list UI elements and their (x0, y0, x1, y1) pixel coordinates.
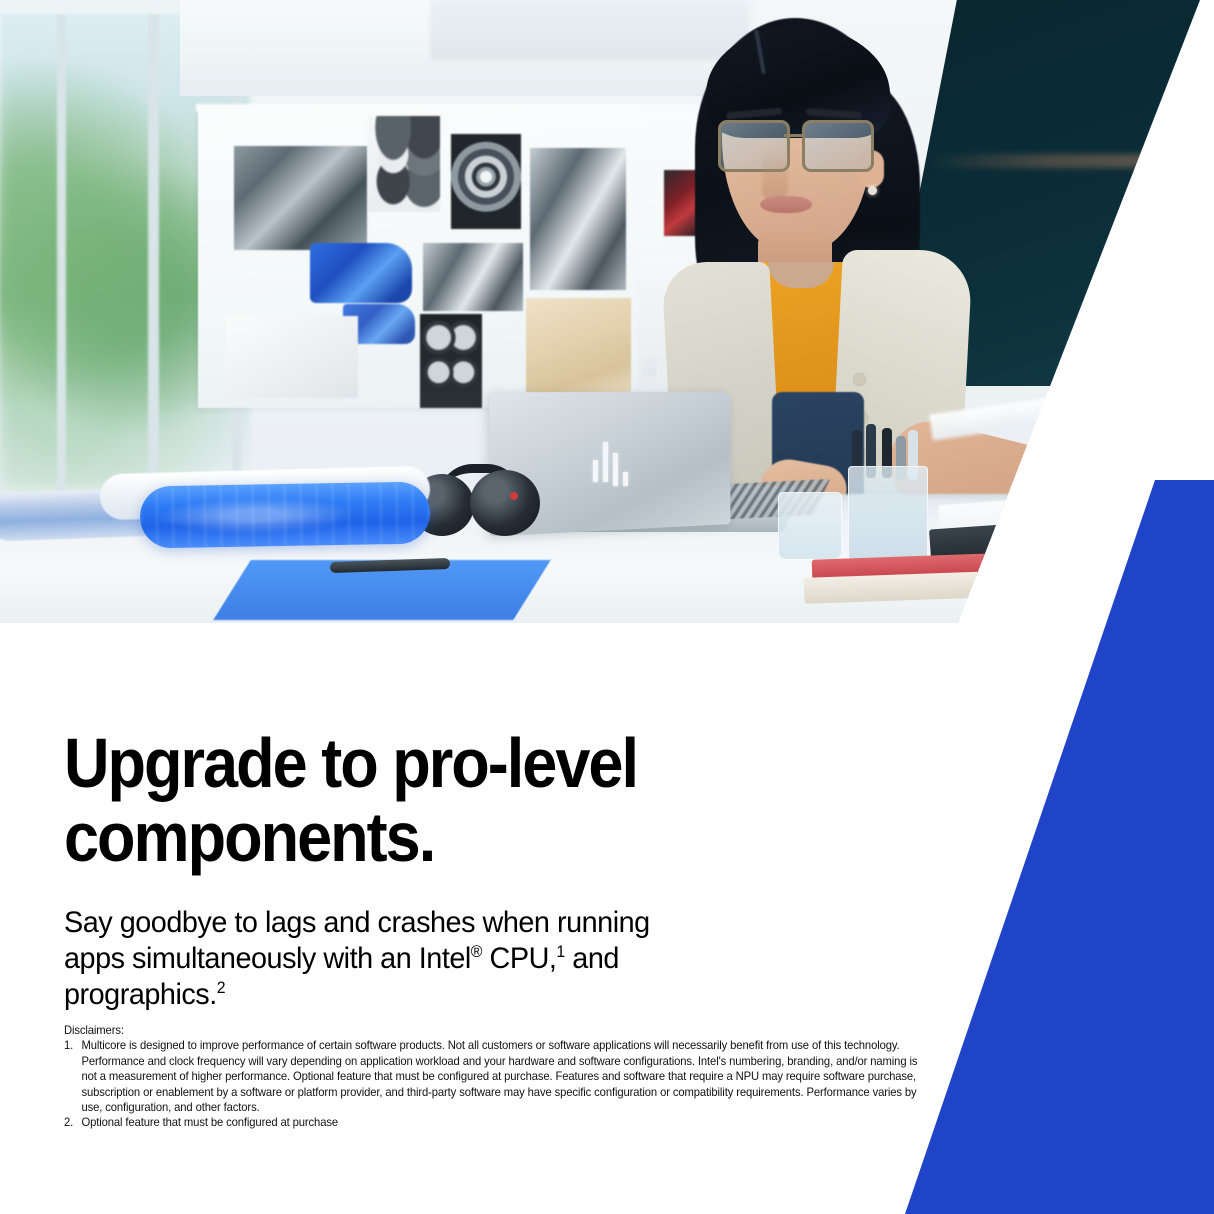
disclaimer-text: Multicore is designed to improve perform… (81, 1038, 917, 1115)
window-mullion (57, 0, 66, 520)
disclaimer-number: 2. (64, 1115, 78, 1130)
sketch-car-profile (530, 148, 626, 290)
water-glass (778, 492, 842, 560)
hero-photo-content (0, 0, 1214, 623)
pen-holder (848, 466, 928, 560)
sketch-wheel (451, 134, 521, 229)
disclaimers-list: 1. Multicore is designed to improve perf… (64, 1038, 918, 1130)
sketch-wireframe-car (226, 316, 358, 398)
disclaimers-block: Disclaimers: 1. Multicore is designed to… (64, 1023, 918, 1131)
headphone-indicator (510, 492, 518, 500)
content-area: Upgrade to pro-level components. Say goo… (0, 623, 1214, 1214)
sketch-parts-grid (368, 116, 440, 212)
page-title: Upgrade to pro-level components. (64, 726, 712, 874)
subhead-part2: CPU, (482, 942, 556, 975)
subheadline: Say goodbye to lags and crashes when run… (64, 905, 678, 1013)
sketch-blue-concept (310, 243, 412, 303)
blueprint-roll-blue (139, 481, 430, 548)
sketch-car-interior (526, 298, 631, 406)
sketch-chassis (234, 146, 367, 250)
lens (802, 120, 874, 172)
headphone-earcup (470, 470, 540, 536)
subhead-part1: Say goodbye to lags and crashes when run… (64, 906, 650, 975)
window-mullion (148, 0, 159, 520)
sketch-tire-grid (420, 314, 482, 408)
ad-canvas: Upgrade to pro-level components. Say goo… (0, 0, 1214, 1214)
registered-mark: ® (471, 943, 482, 961)
lips (760, 196, 812, 213)
hp-logo (593, 442, 631, 482)
window-greenery (0, 60, 230, 490)
disclaimer-number: 1. (64, 1038, 78, 1053)
disclaimer-item: 1. Multicore is designed to improve perf… (64, 1038, 918, 1115)
disclaimer-text: Optional feature that must be configured… (81, 1115, 917, 1130)
sketch-engine-detail (423, 243, 523, 311)
nose (762, 150, 788, 202)
earring (868, 186, 877, 195)
eyeglasses-icon (718, 120, 876, 170)
footnote-ref-2: 2 (217, 979, 225, 997)
disclaimer-item: 2. Optional feature that must be configu… (64, 1115, 918, 1130)
headphones-icon (410, 470, 542, 538)
vest-button (854, 374, 865, 385)
glasses-bridge (784, 134, 804, 137)
disclaimers-title: Disclaimers: (64, 1023, 918, 1038)
hero-image (0, 0, 1214, 623)
footnote-ref-1: 1 (556, 943, 564, 961)
